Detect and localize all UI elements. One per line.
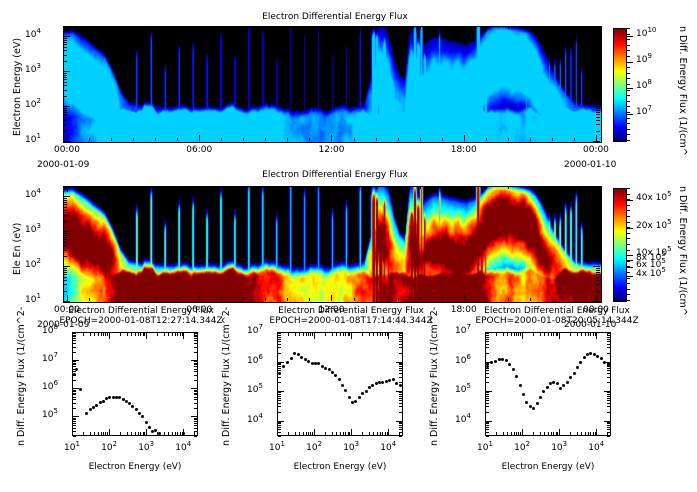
- tick-mark: [194, 432, 195, 436]
- tick-mark: [398, 138, 399, 141]
- tick-mark: [288, 432, 289, 436]
- tick-mark: [194, 421, 197, 422]
- tick-mark: [354, 138, 355, 141]
- tick-mark: [607, 429, 610, 430]
- tick-mark: [194, 333, 195, 336]
- tick-mark: [101, 432, 102, 436]
- tick-mark: [627, 255, 630, 256]
- tick-mark: [596, 274, 600, 275]
- tick-mark: [596, 110, 600, 111]
- tick-mark: [486, 422, 489, 423]
- tick-mark: [377, 333, 378, 336]
- tick-mark: [380, 432, 381, 436]
- tick-mark: [464, 138, 465, 141]
- tick-mark: [278, 398, 281, 399]
- panel1-colorbar: [613, 28, 627, 142]
- tick-mark: [607, 344, 610, 345]
- tick-mark: [376, 138, 377, 141]
- tick-mark: [63, 235, 67, 236]
- tick-mark: [63, 114, 67, 115]
- tick-mark: [133, 138, 134, 141]
- tick-mark: [194, 397, 197, 398]
- tick-mark: [63, 250, 67, 251]
- tick-mark: [63, 55, 67, 56]
- tick-mark: [530, 138, 531, 141]
- spectrum-2-ytick-5: 105: [455, 385, 471, 395]
- tick-mark: [164, 432, 165, 436]
- tick-mark: [607, 382, 610, 383]
- tick-mark: [486, 333, 489, 334]
- tick-mark: [194, 371, 197, 372]
- tick-mark: [107, 333, 108, 336]
- data-point: [282, 365, 285, 368]
- tick-mark: [508, 138, 509, 141]
- tick-mark: [343, 333, 344, 336]
- panel2-ylabel: Ele En (eV): [12, 223, 23, 275]
- tick-mark: [310, 333, 311, 336]
- tick-mark: [265, 298, 266, 301]
- tick-mark: [486, 436, 489, 437]
- tick-mark: [607, 339, 610, 340]
- tick-mark: [155, 186, 156, 189]
- tick-mark: [63, 198, 67, 199]
- spectrum-plot-area-1: [277, 332, 403, 436]
- tick-mark: [63, 120, 67, 121]
- tick-mark: [486, 337, 489, 338]
- tick-mark: [399, 363, 402, 364]
- tick-mark: [596, 138, 597, 141]
- tick-mark: [485, 429, 486, 436]
- tick-mark: [89, 26, 90, 29]
- tick-mark: [486, 353, 489, 354]
- tick-mark: [63, 108, 67, 109]
- tick-mark: [486, 377, 489, 378]
- tick-mark: [345, 432, 346, 436]
- tick-mark: [496, 432, 497, 436]
- tick-mark: [544, 333, 545, 336]
- tick-mark: [627, 238, 630, 239]
- tick-mark: [577, 432, 578, 436]
- xtick-12:00-2: 12:00: [315, 145, 347, 155]
- tick-mark: [553, 432, 554, 436]
- tick-mark: [278, 396, 281, 397]
- spectrum-1-xtick-3: 103: [337, 443, 365, 453]
- data-point: [607, 364, 610, 367]
- tick-mark: [382, 432, 383, 436]
- tick-mark: [182, 333, 183, 336]
- tick-mark: [72, 429, 73, 436]
- tick-mark: [73, 390, 76, 391]
- tick-mark: [278, 382, 281, 383]
- tick-mark: [278, 363, 281, 364]
- data-point: [89, 408, 92, 411]
- tick-mark: [627, 283, 630, 284]
- tick-mark: [103, 333, 104, 336]
- tick-mark: [177, 186, 178, 189]
- tick-mark: [288, 333, 289, 336]
- data-point: [536, 402, 539, 405]
- tick-mark: [627, 216, 630, 217]
- tick-mark: [135, 333, 136, 336]
- tick-mark: [194, 338, 197, 339]
- tick-mark: [73, 352, 76, 353]
- tick-mark: [522, 429, 523, 436]
- spectrum-title-1: Electron Differential Energy Flux: [246, 306, 456, 316]
- tick-mark: [570, 432, 571, 436]
- panel1-date-left: 2000-01-09: [37, 160, 89, 170]
- tick-mark: [63, 280, 67, 281]
- spectrum-2-ytick-4: 104: [455, 415, 471, 425]
- tick-mark: [278, 436, 281, 437]
- tick-mark: [508, 186, 509, 189]
- tick-mark: [398, 298, 399, 301]
- tick-mark: [67, 26, 68, 29]
- tick-mark: [511, 432, 512, 436]
- tick-mark: [175, 432, 176, 436]
- tick-mark: [133, 186, 134, 189]
- tick-mark: [596, 73, 600, 74]
- tick-mark: [399, 394, 402, 395]
- tick-mark: [520, 432, 521, 436]
- tick-mark: [627, 123, 630, 124]
- tick-mark: [63, 124, 67, 125]
- tick-mark: [63, 50, 67, 51]
- tick-mark: [486, 403, 489, 404]
- tick-mark: [442, 298, 443, 301]
- tick-mark: [376, 26, 377, 29]
- tick-mark: [607, 422, 610, 423]
- tick-mark: [627, 294, 630, 295]
- tick-mark: [596, 270, 600, 271]
- tick-mark: [354, 186, 355, 189]
- tick-mark: [278, 423, 281, 424]
- tick-mark: [607, 392, 610, 393]
- spectrum-2-xtick-4: 104: [582, 443, 610, 453]
- tick-mark: [194, 375, 197, 376]
- tick-mark: [486, 344, 489, 345]
- tick-mark: [486, 429, 489, 430]
- tick-mark: [73, 335, 76, 336]
- tick-mark: [486, 400, 489, 401]
- tick-mark: [596, 44, 600, 45]
- tick-mark: [362, 333, 363, 336]
- tick-mark: [627, 114, 633, 115]
- tick-mark: [194, 408, 197, 409]
- tick-mark: [399, 422, 402, 423]
- tick-mark: [627, 28, 630, 29]
- tick-mark: [559, 333, 560, 339]
- tick-mark: [596, 40, 600, 41]
- tick-mark: [486, 432, 489, 433]
- tick-mark: [486, 394, 489, 395]
- tick-mark: [345, 333, 346, 336]
- tick-mark: [83, 432, 84, 436]
- tick-mark: [306, 432, 307, 436]
- tick-mark: [596, 120, 600, 121]
- tick-mark: [399, 423, 402, 424]
- tick-mark: [399, 382, 402, 383]
- colorbar-tick-3: 1010: [636, 29, 656, 39]
- spectrum-0-xtick-2: 102: [95, 443, 123, 453]
- tick-mark: [336, 432, 337, 436]
- panel2-colorbar: [613, 188, 627, 302]
- ytick-4: 104: [25, 190, 41, 200]
- tick-mark: [398, 186, 399, 189]
- tick-mark: [177, 432, 178, 436]
- tick-mark: [596, 47, 600, 48]
- tick-mark: [277, 333, 278, 339]
- tick-mark: [516, 333, 517, 336]
- tick-mark: [399, 347, 402, 348]
- spectrum-ylabel-1: n Diff. Energy Flux (1/(cm^2-: [221, 307, 232, 446]
- tick-mark: [312, 333, 313, 336]
- tick-mark: [73, 418, 76, 419]
- data-point: [546, 386, 549, 389]
- tick-mark: [399, 370, 402, 371]
- tick-mark: [607, 406, 610, 407]
- tick-mark: [98, 333, 99, 336]
- tick-mark: [376, 186, 377, 189]
- tick-mark: [194, 363, 197, 364]
- tick-mark: [194, 436, 197, 437]
- spectrum-1-xtick-4: 104: [374, 443, 402, 453]
- tick-mark: [590, 432, 591, 436]
- tick-mark: [183, 333, 184, 339]
- tick-mark: [420, 186, 421, 189]
- tick-mark: [177, 298, 178, 301]
- tick-mark: [63, 61, 67, 62]
- tick-mark: [303, 432, 304, 436]
- spectrum-1-ytick-4: 104: [247, 415, 263, 425]
- tick-mark: [194, 361, 197, 362]
- tick-mark: [464, 186, 465, 189]
- tick-mark: [607, 432, 608, 436]
- tick-mark: [399, 412, 402, 413]
- tick-mark: [399, 406, 402, 407]
- tick-mark: [556, 333, 557, 336]
- tick-mark: [530, 26, 531, 29]
- tick-mark: [243, 138, 244, 141]
- tick-mark: [111, 138, 112, 141]
- tick-mark: [585, 333, 586, 336]
- tick-mark: [548, 333, 549, 336]
- tick-mark: [194, 364, 197, 365]
- tick-mark: [380, 333, 381, 336]
- tick-mark: [464, 298, 465, 301]
- tick-mark: [596, 277, 600, 278]
- tick-mark: [627, 36, 633, 37]
- tick-mark: [627, 188, 630, 189]
- tick-mark: [199, 298, 200, 301]
- tick-mark: [63, 277, 67, 278]
- data-point: [501, 358, 504, 361]
- tick-mark: [73, 363, 76, 364]
- spectrum-0-xtick-1: 101: [58, 443, 86, 453]
- tick-mark: [596, 210, 600, 211]
- tick-mark: [199, 186, 200, 189]
- tick-mark: [627, 50, 630, 51]
- tick-mark: [507, 333, 508, 336]
- tick-mark: [120, 432, 121, 436]
- tick-mark: [486, 335, 489, 336]
- tick-mark: [486, 382, 489, 383]
- tick-mark: [105, 432, 106, 436]
- tick-mark: [551, 432, 552, 436]
- tick-mark: [607, 368, 610, 369]
- tick-mark: [73, 336, 76, 337]
- spectrum-2-xtick-2: 102: [508, 443, 536, 453]
- tick-mark: [420, 138, 421, 141]
- data-point: [148, 426, 151, 429]
- tick-mark: [570, 333, 571, 336]
- tick-mark: [73, 399, 76, 400]
- tick-mark: [607, 400, 610, 401]
- tick-mark: [627, 266, 630, 267]
- tick-mark: [486, 406, 489, 407]
- tick-mark: [221, 298, 222, 301]
- tick-mark: [287, 26, 288, 29]
- tick-mark: [596, 250, 600, 251]
- tick-mark: [581, 333, 582, 336]
- tick-mark: [63, 301, 70, 302]
- tick-mark: [627, 227, 630, 228]
- tick-mark: [627, 272, 630, 273]
- spectrum-1-ytick-7: 107: [247, 326, 263, 336]
- spectrum-subtitle-0: EPOCH=2000-01-08T12:27:14.344Z: [36, 316, 246, 326]
- tick-mark: [596, 202, 600, 203]
- tick-mark: [442, 186, 443, 189]
- tick-mark: [557, 333, 558, 336]
- tick-mark: [89, 298, 90, 301]
- tick-mark: [354, 298, 355, 301]
- data-point: [135, 408, 138, 411]
- tick-mark: [73, 364, 76, 365]
- spectrum-0-ytick-6: 106: [42, 382, 58, 392]
- tick-mark: [607, 347, 610, 348]
- tick-mark: [596, 333, 597, 339]
- colorbar-tick-5: 40x 105: [636, 193, 672, 203]
- tick-mark: [63, 47, 67, 48]
- data-point: [498, 358, 501, 361]
- tick-mark: [109, 429, 110, 436]
- tick-mark: [265, 186, 266, 189]
- tick-mark: [194, 419, 197, 420]
- data-point: [145, 421, 148, 424]
- ytick-3: 103: [25, 65, 41, 75]
- tick-mark: [133, 298, 134, 301]
- tick-mark: [354, 26, 355, 29]
- tick-mark: [278, 422, 281, 423]
- tick-mark: [486, 412, 489, 413]
- tick-mark: [83, 333, 84, 336]
- spectrum-subtitle-1: EPOCH=2000-01-08T17:14:44.344Z: [246, 316, 456, 326]
- tick-mark: [399, 344, 402, 345]
- tick-mark: [180, 333, 181, 336]
- tick-mark: [295, 432, 296, 436]
- tick-mark: [552, 298, 553, 301]
- tick-mark: [596, 200, 600, 201]
- tick-mark: [627, 112, 630, 113]
- tick-mark: [63, 90, 67, 91]
- tick-mark: [556, 432, 557, 436]
- tick-mark: [94, 432, 95, 436]
- tick-mark: [607, 396, 610, 397]
- tick-mark: [540, 333, 541, 336]
- tick-mark: [299, 432, 300, 436]
- tick-mark: [194, 390, 197, 391]
- data-point: [331, 371, 334, 374]
- tick-mark: [199, 26, 200, 29]
- tick-mark: [607, 333, 608, 336]
- tick-mark: [382, 333, 383, 336]
- tick-mark: [577, 333, 578, 336]
- tick-mark: [343, 432, 344, 436]
- tick-mark: [63, 141, 70, 142]
- tick-mark: [351, 333, 352, 339]
- tick-mark: [63, 239, 67, 240]
- tick-mark: [596, 117, 600, 118]
- tick-mark: [399, 436, 402, 437]
- tick-mark: [73, 419, 76, 420]
- tick-mark: [278, 366, 281, 367]
- tick-mark: [73, 338, 76, 339]
- tick-mark: [552, 138, 553, 141]
- tick-mark: [332, 432, 333, 436]
- tick-mark: [496, 333, 497, 336]
- tick-mark: [420, 298, 421, 301]
- tick-mark: [332, 333, 333, 336]
- tick-mark: [140, 432, 141, 436]
- tick-mark: [175, 333, 176, 336]
- tick-mark: [596, 221, 600, 222]
- tick-mark: [278, 403, 281, 404]
- tick-mark: [73, 421, 76, 422]
- tick-mark: [63, 112, 67, 113]
- tick-mark: [514, 333, 515, 336]
- tick-mark: [585, 432, 586, 436]
- tick-mark: [135, 432, 136, 436]
- tick-mark: [399, 400, 402, 401]
- tick-mark: [63, 270, 67, 271]
- data-point: [573, 372, 576, 375]
- tick-mark: [486, 347, 489, 348]
- tick-mark: [607, 377, 610, 378]
- spectrum-ylabel-2: n Diff. Energy Flux (1/(cm^2-: [429, 307, 440, 446]
- tick-mark: [596, 55, 600, 56]
- tick-mark: [140, 333, 141, 336]
- tick-mark: [278, 427, 281, 428]
- xtick-00:00-4: 00:00: [580, 145, 612, 155]
- tick-mark: [596, 61, 600, 62]
- spectrum-1-ytick-6: 106: [247, 356, 263, 366]
- tick-mark: [627, 210, 630, 211]
- tick-mark: [221, 186, 222, 189]
- tick-mark: [607, 423, 610, 424]
- tick-mark: [596, 235, 600, 236]
- tick-mark: [314, 429, 315, 436]
- tick-mark: [168, 432, 169, 436]
- tick-mark: [596, 79, 600, 80]
- tick-mark: [180, 432, 181, 436]
- tick-mark: [596, 237, 600, 238]
- ytick-1: 101: [25, 135, 41, 145]
- tick-mark: [627, 95, 630, 96]
- tick-mark: [399, 366, 402, 367]
- tick-mark: [278, 400, 281, 401]
- tick-mark: [552, 26, 553, 29]
- tick-mark: [63, 202, 67, 203]
- spectrum-0-xtick-4: 104: [169, 443, 197, 453]
